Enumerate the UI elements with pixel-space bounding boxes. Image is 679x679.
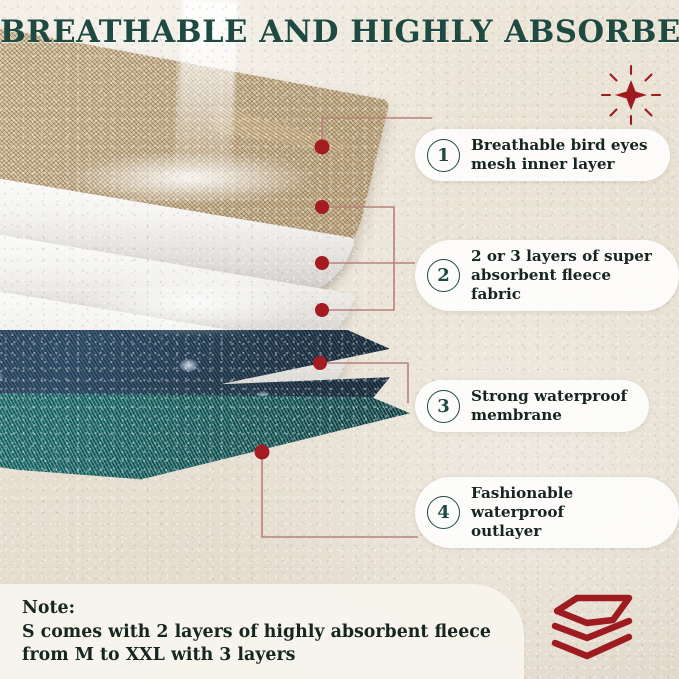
callout-3-label: Strong waterproof membrane bbox=[471, 387, 627, 425]
note-panel: Note: S comes with 2 layers of highly ab… bbox=[0, 584, 524, 679]
leader-dot-2c bbox=[315, 303, 329, 317]
callout-4[interactable]: 4 Fashionable waterproof outlayer bbox=[415, 477, 679, 548]
note-line-1: S comes with 2 layers of highly absorben… bbox=[22, 621, 524, 645]
leader-dot-1 bbox=[315, 140, 330, 155]
leader-dot-2b bbox=[315, 256, 329, 270]
callout-1-label: Breathable bird eyes mesh inner layer bbox=[471, 136, 648, 174]
leader-line-2-bracket bbox=[322, 207, 394, 310]
callout-3-number: 3 bbox=[427, 390, 460, 423]
callout-4-number: 4 bbox=[427, 496, 460, 529]
note-heading: Note: bbox=[22, 597, 524, 621]
leader-line-4 bbox=[262, 452, 418, 537]
note-line-2: from M to XXL with 3 layers bbox=[22, 644, 524, 668]
stacked-layers-icon bbox=[551, 592, 637, 666]
leader-line-3 bbox=[320, 363, 408, 403]
callout-2[interactable]: 2 2 or 3 layers of super absorbent fleec… bbox=[415, 240, 679, 311]
callout-1-number: 1 bbox=[427, 139, 460, 172]
leader-line-1 bbox=[322, 118, 432, 146]
callout-2-number: 2 bbox=[427, 259, 460, 292]
leader-dot-4 bbox=[255, 445, 270, 460]
callout-3[interactable]: 3 Strong waterproof membrane bbox=[415, 380, 649, 432]
callout-leader-lines bbox=[0, 0, 679, 679]
callout-2-label: 2 or 3 layers of super absorbent fleece … bbox=[471, 247, 657, 304]
leader-dot-3 bbox=[313, 356, 327, 370]
callout-4-label: Fashionable waterproof outlayer bbox=[471, 484, 657, 541]
infographic-canvas: BREATHABLE AND HIGHLY ABSORBENT bbox=[0, 0, 679, 679]
leader-dot-2a bbox=[315, 200, 329, 214]
callout-1[interactable]: 1 Breathable bird eyes mesh inner layer bbox=[415, 129, 670, 181]
